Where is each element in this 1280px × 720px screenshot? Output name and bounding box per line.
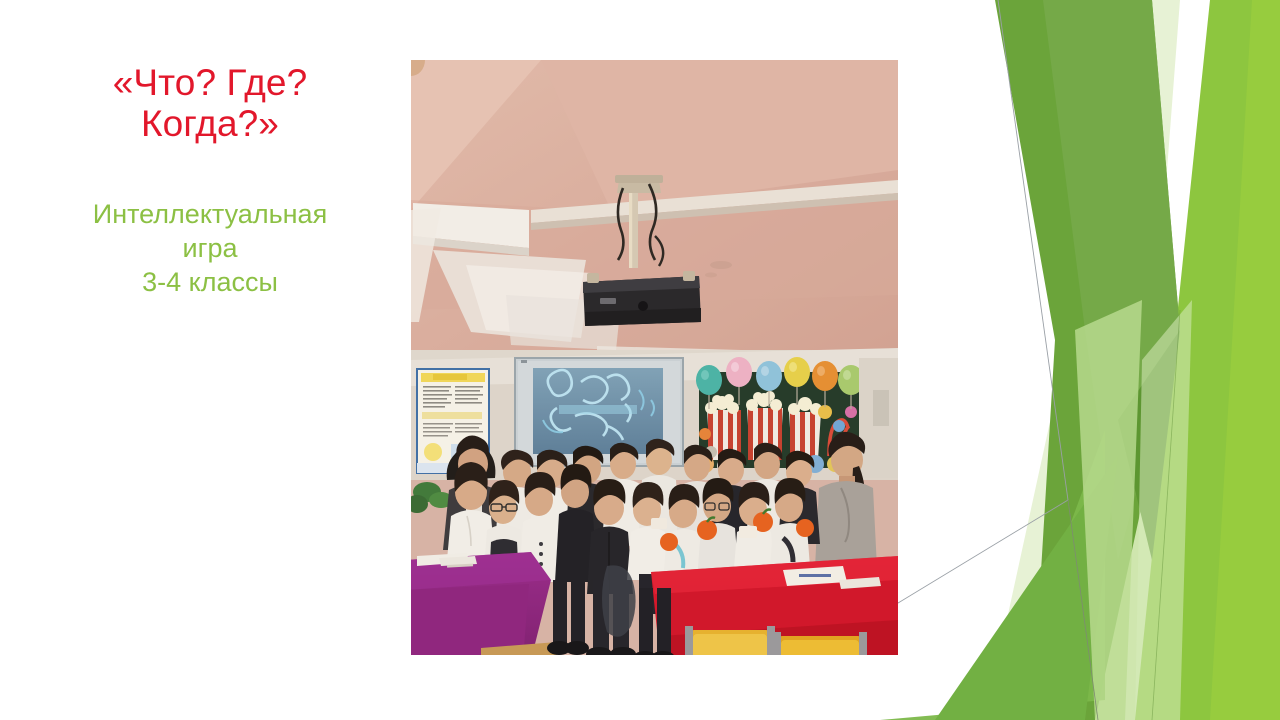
facet-shape-bright-green-far <box>1210 0 1280 720</box>
facet-shape-bright-green-right <box>1135 0 1280 720</box>
subtitle-line-2: игра <box>40 231 380 265</box>
facet-shape-pale-lower <box>985 330 1180 720</box>
facet-shape-dark-green-band <box>995 0 1180 720</box>
title-text-block: «Что? Где? Когда?» Интеллектуальная игра… <box>40 62 380 299</box>
facet-hairline-top <box>998 0 1068 500</box>
facet-hairline-right <box>1152 310 1180 720</box>
presentation-slide: «Что? Где? Когда?» Интеллектуальная игра… <box>0 0 1280 720</box>
facet-shape-deep-green-triangle <box>1118 330 1180 560</box>
classroom-group-photo <box>411 60 898 655</box>
facet-shape-mid-green-band <box>1043 0 1180 560</box>
subtitle-block: Интеллектуальная игра 3-4 классы <box>40 197 380 299</box>
facet-shape-green-slope-2 <box>935 455 1118 720</box>
subtitle-line-1: Интеллектуальная <box>40 197 380 231</box>
facet-shape-pale-upper <box>1055 0 1180 720</box>
facet-hairline-lower-right <box>1068 500 1098 720</box>
facet-hairline-bottom <box>880 500 1068 620</box>
facet-shape-pale-sliver-b <box>1135 300 1192 720</box>
facet-shape-green-slope <box>880 430 1105 720</box>
subtitle-line-3: 3-4 классы <box>40 265 380 299</box>
facet-green-decoration <box>880 0 1280 720</box>
page-title: «Что? Где? Когда?» <box>40 62 380 145</box>
facet-shape-light-green <box>1030 300 1210 720</box>
facet-shape-pale-sliver-a <box>1075 300 1142 720</box>
